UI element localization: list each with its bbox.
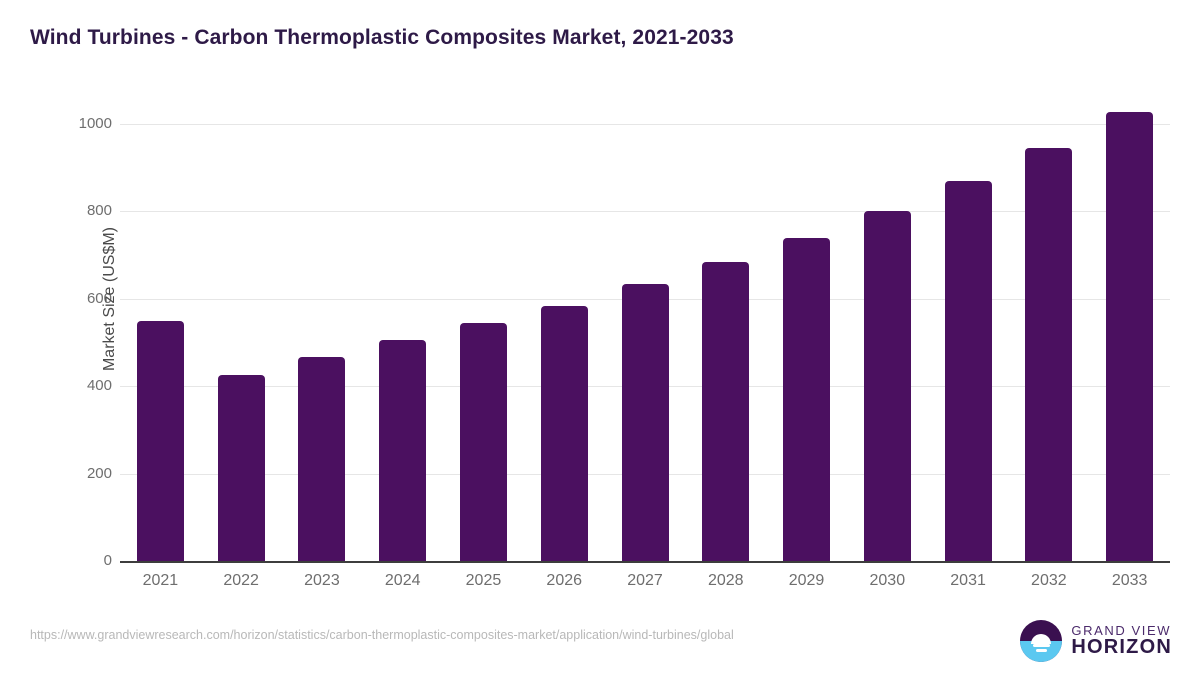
x-tick-label-2030: 2030: [842, 572, 932, 590]
bar-2024[interactable]: [379, 340, 426, 562]
x-tick-label-2022: 2022: [196, 572, 286, 590]
logo-ray-upper: [1033, 644, 1050, 647]
bar-2026[interactable]: [541, 306, 588, 562]
x-tick-label-2023: 2023: [277, 572, 367, 590]
logo-sun-shape: [1031, 634, 1051, 644]
x-axis-line: [120, 561, 1170, 563]
x-tick-label-2021: 2021: [115, 572, 205, 590]
x-tick-label-2029: 2029: [762, 572, 852, 590]
bar-2028[interactable]: [702, 262, 749, 562]
bar-2029[interactable]: [783, 238, 830, 562]
x-tick-label-2033: 2033: [1085, 572, 1175, 590]
bar-2033[interactable]: [1106, 112, 1153, 562]
y-tick-label: 200: [40, 465, 112, 482]
logo-line-1: GRAND VIEW: [1071, 624, 1172, 638]
bar-2025[interactable]: [460, 323, 507, 562]
y-tick-label: 0: [40, 552, 112, 569]
logo-line-2: HORIZON: [1071, 637, 1172, 658]
y-axis-title: Market Size (US$M): [101, 169, 119, 429]
x-tick-label-2032: 2032: [1004, 572, 1094, 590]
bar-2031[interactable]: [945, 181, 992, 562]
logo-wordmark: GRAND VIEW HORIZON: [1071, 624, 1172, 659]
bar-2023[interactable]: [298, 357, 345, 562]
bar-2027[interactable]: [622, 284, 669, 562]
bar-2032[interactable]: [1025, 148, 1072, 562]
y-tick-label: 1000: [40, 115, 112, 132]
x-tick-label-2028: 2028: [681, 572, 771, 590]
bar-2021[interactable]: [137, 321, 184, 562]
logo-ray-lower: [1036, 649, 1047, 652]
bar-2022[interactable]: [218, 375, 265, 562]
chart-screenshot: Wind Turbines - Carbon Thermoplastic Com…: [0, 0, 1200, 675]
x-tick-label-2027: 2027: [600, 572, 690, 590]
grand-view-horizon-logo: GRAND VIEW HORIZON: [1020, 620, 1172, 662]
bar-series: [120, 110, 1170, 562]
page-title: Wind Turbines - Carbon Thermoplastic Com…: [30, 26, 734, 50]
horizon-sun-icon: [1020, 620, 1062, 662]
x-tick-label-2024: 2024: [358, 572, 448, 590]
x-tick-label-2026: 2026: [519, 572, 609, 590]
source-url[interactable]: https://www.grandviewresearch.com/horizo…: [30, 628, 734, 642]
x-tick-label-2031: 2031: [923, 572, 1013, 590]
x-tick-label-2025: 2025: [438, 572, 528, 590]
bar-2030[interactable]: [864, 211, 911, 562]
